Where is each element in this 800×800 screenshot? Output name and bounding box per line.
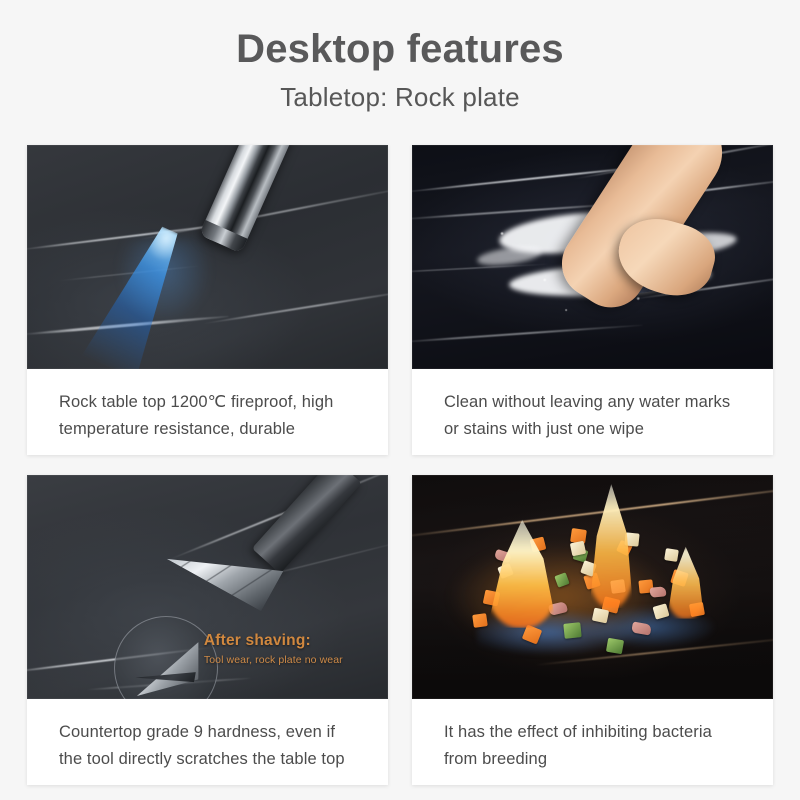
diced-food (606, 637, 624, 654)
header: Desktop features Tabletop: Rock plate (0, 0, 800, 113)
feature-card-stain-resistant: Clean without leaving any water marks or… (412, 145, 773, 455)
feature-card-fireproof: Rock table top 1200℃ fireproof, high tem… (27, 145, 388, 455)
infographic-page: Desktop features Tabletop: Rock plate Ro… (0, 0, 800, 800)
magnified-blade-tip (133, 637, 201, 699)
annotation-title: After shaving: (204, 632, 343, 650)
page-title: Desktop features (0, 26, 800, 72)
hand-wiping-powder-photo (412, 145, 773, 369)
after-shaving-annotation: After shaving: Tool wear, rock plate no … (204, 632, 343, 666)
blowtorch-on-rock-plate-photo (27, 145, 388, 369)
feature-grid: Rock table top 1200℃ fireproof, high tem… (27, 145, 773, 785)
diced-food (563, 622, 581, 639)
feature-card-scratch-resistant: After shaving: Tool wear, rock plate no … (27, 475, 388, 785)
annotation-subtitle: Tool wear, rock plate no wear (204, 654, 343, 666)
feature-caption: Clean without leaving any water marks or… (412, 369, 773, 455)
diced-food (650, 586, 667, 598)
utility-knife-scratch-test-photo: After shaving: Tool wear, rock plate no … (27, 475, 388, 699)
page-subtitle: Tabletop: Rock plate (0, 82, 800, 113)
feature-card-antibacterial: It has the effect of inhibiting bacteria… (412, 475, 773, 785)
diced-food (473, 613, 489, 628)
feature-caption: Rock table top 1200℃ fireproof, high tem… (27, 369, 388, 455)
feature-caption: It has the effect of inhibiting bacteria… (412, 699, 773, 785)
feature-caption: Countertop grade 9 hardness, even if the… (27, 699, 388, 785)
burning-diced-food-photo (412, 475, 773, 699)
diced-food (664, 548, 679, 562)
